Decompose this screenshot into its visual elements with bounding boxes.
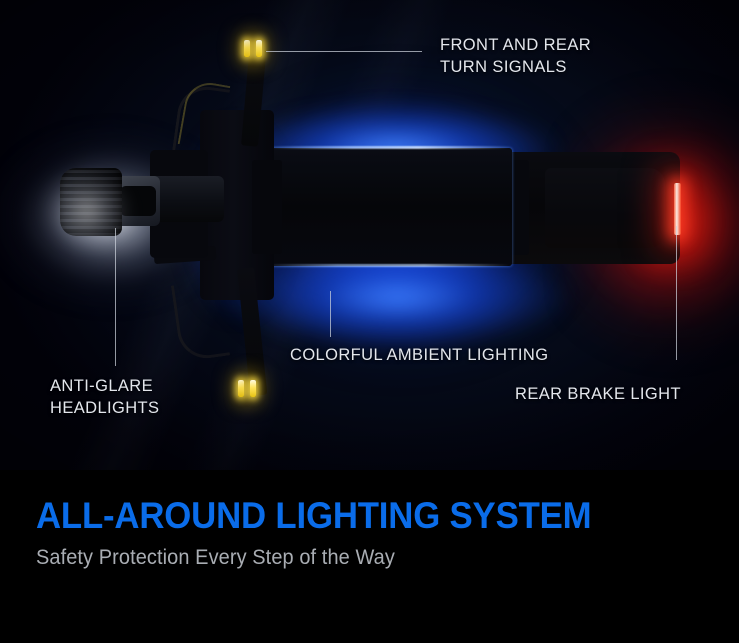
headlight-hotspot: [42, 172, 132, 250]
callout-brake-light: REAR BRAKE LIGHT: [515, 384, 681, 406]
leader-line-headlights: [115, 228, 116, 366]
scooter-deck: [262, 148, 512, 266]
turn-signal-rear-left: [238, 380, 244, 397]
lighting-system-poster: FRONT AND REAR TURN SIGNALS ANTI-GLARE H…: [0, 0, 739, 643]
deck-edge-highlight-bottom: [264, 264, 510, 267]
leader-line-turn-signals: [266, 51, 422, 52]
subheadline: Safety Protection Every Step of the Way: [36, 546, 395, 570]
leader-line-brake-light: [676, 226, 677, 360]
turn-signal-rear-right: [250, 380, 256, 397]
headline: ALL-AROUND LIGHTING SYSTEM: [36, 495, 591, 537]
leader-line-ambient: [330, 291, 331, 337]
callout-headlights: ANTI-GLARE HEADLIGHTS: [50, 376, 159, 420]
turn-signal-front-left: [244, 40, 250, 57]
product-photo: FRONT AND REAR TURN SIGNALS ANTI-GLARE H…: [0, 0, 739, 470]
scooter-stem-cap: [252, 160, 282, 254]
caption-band: ALL-AROUND LIGHTING SYSTEM Safety Protec…: [0, 470, 739, 643]
scooter-rear-fender: [545, 168, 665, 248]
turn-signal-front-right: [256, 40, 262, 57]
callout-turn-signals: FRONT AND REAR TURN SIGNALS: [440, 35, 591, 79]
deck-edge-highlight-top: [268, 146, 510, 149]
callout-ambient: COLORFUL AMBIENT LIGHTING: [290, 345, 548, 367]
